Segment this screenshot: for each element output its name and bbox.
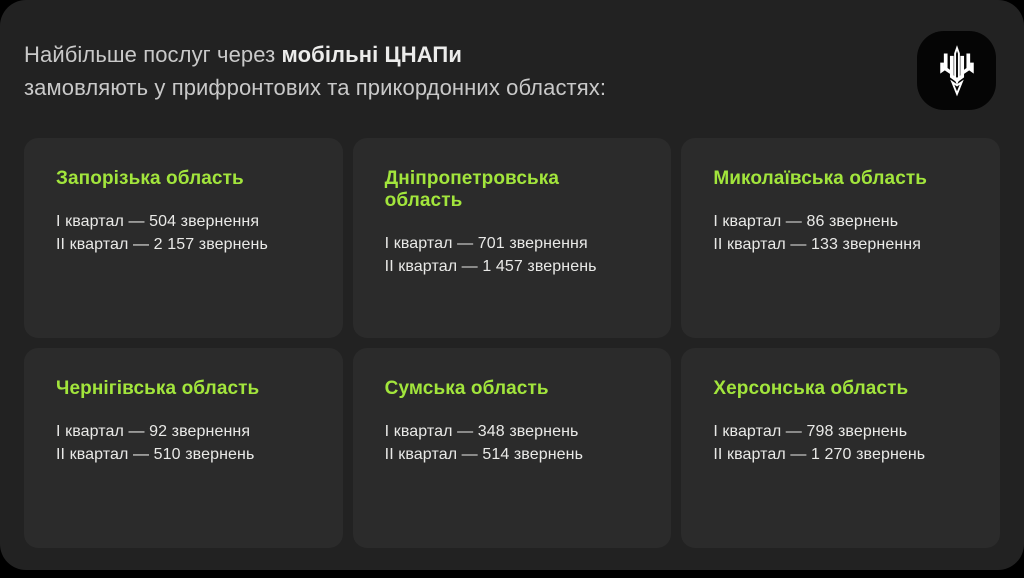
quarter-2-stat: II квартал — 1 457 звернень — [385, 255, 642, 278]
quarter-1-stat: I квартал — 798 звернень — [713, 420, 970, 443]
quarter-1-stat: I квартал — 92 звернення — [56, 420, 313, 443]
infographic-panel: Найбільше послуг через мобільні ЦНАПизам… — [0, 0, 1024, 570]
headline-emphasis: мобільні ЦНАПи — [282, 42, 462, 67]
page-title: Найбільше послуг через мобільні ЦНАПизам… — [24, 38, 874, 104]
quarter-2-stat: II квартал — 133 звернення — [713, 233, 970, 256]
region-card: Сумська область I квартал — 348 звернень… — [353, 348, 672, 548]
quarter-1-stat: I квартал — 504 звернення — [56, 210, 313, 233]
region-name: Запорізька область — [56, 168, 313, 190]
region-card: Чернігівська область I квартал — 92 звер… — [24, 348, 343, 548]
region-cards-grid: Запорізька область I квартал — 504 зверн… — [24, 138, 1000, 548]
quarter-2-stat: II квартал — 510 звернень — [56, 443, 313, 466]
region-name: Миколаївська область — [713, 168, 970, 190]
region-name: Сумська область — [385, 378, 642, 400]
region-card: Миколаївська область I квартал — 86 звер… — [681, 138, 1000, 338]
quarter-2-stat: II квартал — 514 звернень — [385, 443, 642, 466]
region-name: Чернігівська область — [56, 378, 313, 400]
ukraine-tryzub-icon — [917, 31, 996, 110]
headline-line2: замовляють у прифронтових та прикордонни… — [24, 75, 606, 100]
quarter-2-stat: II квартал — 1 270 звернень — [713, 443, 970, 466]
region-name: Дніпропетровська область — [385, 168, 642, 212]
quarter-1-stat: I квартал — 701 звернення — [385, 232, 642, 255]
region-card: Запорізька область I квартал — 504 зверн… — [24, 138, 343, 338]
region-name: Херсонська область — [713, 378, 970, 400]
region-card: Дніпропетровська область I квартал — 701… — [353, 138, 672, 338]
header: Найбільше послуг через мобільні ЦНАПизам… — [0, 0, 1024, 138]
quarter-2-stat: II квартал — 2 157 звернень — [56, 233, 313, 256]
quarter-1-stat: I квартал — 348 звернень — [385, 420, 642, 443]
headline-line1-lead: Найбільше послуг через — [24, 42, 282, 67]
region-card: Херсонська область I квартал — 798 зверн… — [681, 348, 1000, 548]
quarter-1-stat: I квартал — 86 звернень — [713, 210, 970, 233]
